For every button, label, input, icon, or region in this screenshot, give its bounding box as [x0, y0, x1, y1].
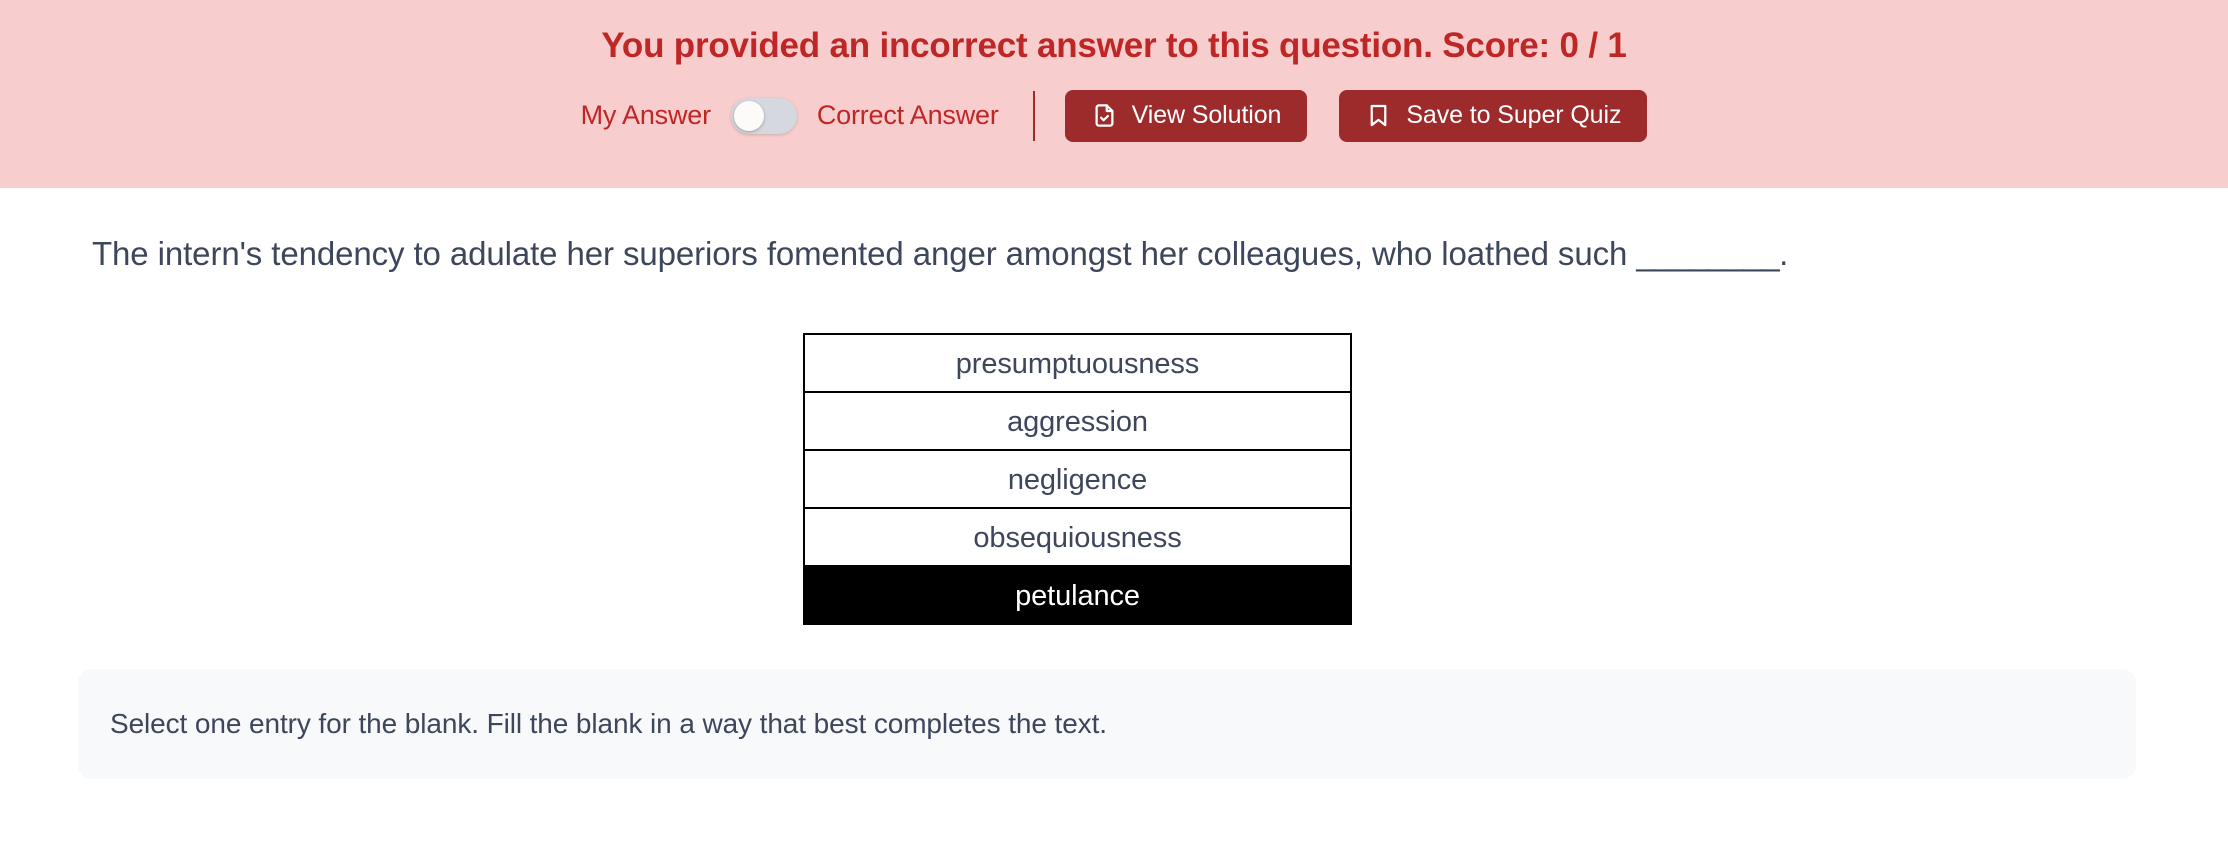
answer-view-toggle[interactable] [731, 98, 797, 134]
view-solution-label: View Solution [1132, 101, 1282, 130]
bookmark-icon [1365, 102, 1392, 129]
question-period: . [1779, 235, 1788, 272]
answer-option-3[interactable]: negligence [805, 451, 1350, 509]
answer-option-5[interactable]: petulance [805, 567, 1350, 625]
answer-option-4[interactable]: obsequiousness [805, 509, 1350, 567]
answer-options: presumptuousness aggression negligence o… [92, 333, 2228, 625]
view-solution-button[interactable]: View Solution [1065, 90, 1308, 142]
answer-option-2[interactable]: aggression [805, 393, 1350, 451]
question-stem-line1: The intern's tendency to adulate her sup… [92, 235, 1627, 272]
question-content: The intern's tendency to adulate her sup… [0, 220, 2228, 625]
question-stem: The intern's tendency to adulate her sup… [92, 220, 2022, 287]
instructions-panel: Select one entry for the blank. Fill the… [78, 669, 2136, 779]
result-headline: You provided an incorrect answer to this… [601, 24, 1626, 68]
save-to-super-quiz-label: Save to Super Quiz [1406, 101, 1621, 130]
my-answer-label: My Answer [581, 100, 711, 131]
banner-controls: My Answer Correct Answer View Solution [581, 90, 1648, 142]
correct-answer-label: Correct Answer [817, 100, 999, 131]
instructions-text: Select one entry for the blank. Fill the… [110, 708, 1107, 740]
banner-divider [1033, 91, 1035, 141]
save-to-super-quiz-button[interactable]: Save to Super Quiz [1339, 90, 1647, 142]
document-check-icon [1091, 102, 1118, 129]
result-banner: You provided an incorrect answer to this… [0, 0, 2228, 188]
answer-options-table: presumptuousness aggression negligence o… [803, 333, 1352, 625]
answer-option-1[interactable]: presumptuousness [805, 335, 1350, 393]
question-blank: ________ [1636, 235, 1779, 272]
toggle-knob [734, 101, 764, 131]
